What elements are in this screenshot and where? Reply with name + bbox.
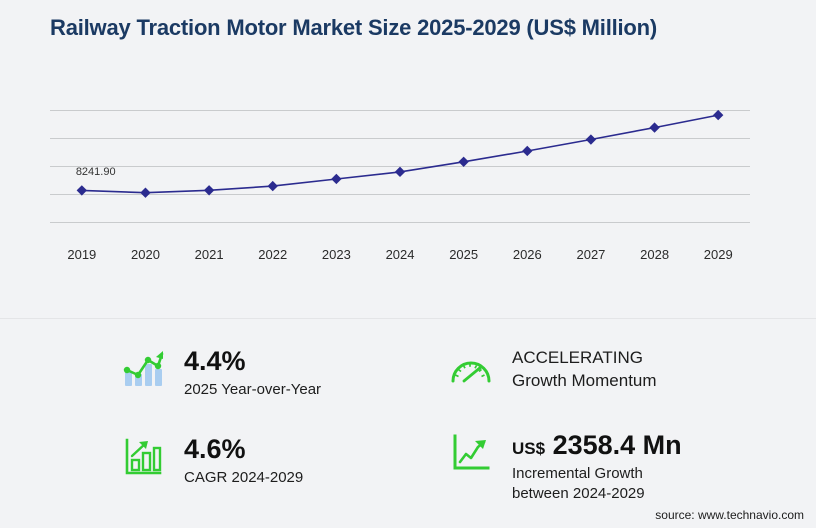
data-point-2023 (331, 174, 341, 184)
data-label-2019: 8241.90 (76, 166, 116, 178)
data-point-2028 (649, 122, 659, 132)
x-tick: 2026 (495, 247, 559, 277)
stat-caption-incremental-line1: Incremental Growth (512, 464, 682, 484)
stat-amount-incremental: 2358.4 Mn (553, 430, 682, 460)
data-point-2029 (713, 110, 723, 120)
stat-caption-yoy: 2025 Year-over-Year (184, 380, 321, 400)
data-point-2022 (268, 181, 278, 191)
data-point-2025 (458, 157, 468, 167)
x-tick: 2029 (686, 247, 750, 277)
stat-card-incremental: US$ 2358.4 Mn Incremental Growth between… (448, 430, 682, 504)
x-axis: 2019 2020 2021 2022 2023 2024 2025 2026 … (50, 247, 750, 277)
stat-heading-momentum: ACCELERATING (512, 347, 657, 370)
data-point-2027 (586, 134, 596, 144)
x-tick: 2024 (368, 247, 432, 277)
stat-unit-incremental: US$ (512, 439, 545, 458)
stat-text-incremental: US$ 2358.4 Mn Incremental Growth between… (512, 430, 682, 504)
x-tick: 2028 (623, 247, 687, 277)
data-point-2021 (204, 185, 214, 195)
bar-chart-trend-icon (120, 346, 166, 392)
data-point-2026 (522, 146, 532, 156)
stats-panel: 4.4% 2025 Year-over-Year 4.6% CAGR 2024-… (0, 330, 816, 510)
x-tick: 2019 (50, 247, 114, 277)
source-attribution: source: www.technavio.com (655, 508, 804, 522)
bar-chart-arrow-icon (120, 434, 166, 480)
series-line (82, 115, 718, 193)
stat-text-yoy: 4.4% 2025 Year-over-Year (184, 346, 321, 399)
page-title-container: Railway Traction Motor Market Size 2025-… (50, 14, 710, 42)
line-chart-arrow-icon (448, 430, 494, 476)
stat-card-cagr: 4.6% CAGR 2024-2029 (120, 434, 303, 487)
x-tick: 2023 (305, 247, 369, 277)
page-title: Railway Traction Motor Market Size 2025-… (50, 14, 710, 42)
stat-text-cagr: 4.6% CAGR 2024-2029 (184, 434, 303, 487)
chart-series-svg (50, 92, 750, 242)
stat-card-yoy: 4.4% 2025 Year-over-Year (120, 346, 321, 399)
x-tick: 2027 (559, 247, 623, 277)
section-divider (0, 318, 816, 319)
stat-caption-cagr: CAGR 2024-2029 (184, 468, 303, 488)
stat-value-incremental: US$ 2358.4 Mn (512, 431, 682, 461)
chart-plot-area: 8241.90 (50, 92, 750, 242)
stat-card-momentum: ACCELERATING Growth Momentum (448, 346, 657, 393)
data-point-2019 (77, 185, 87, 195)
stat-value-cagr: 4.6% (184, 435, 303, 465)
data-point-2020 (140, 188, 150, 198)
stat-caption-momentum: Growth Momentum (512, 370, 657, 393)
x-tick: 2020 (114, 247, 178, 277)
speedometer-icon (448, 346, 494, 392)
series-markers (77, 110, 724, 198)
line-chart: 8241.90 2019 2020 2021 2022 2023 2024 20… (0, 92, 816, 282)
stat-value-yoy: 4.4% (184, 347, 321, 377)
data-point-2024 (395, 167, 405, 177)
x-tick: 2021 (177, 247, 241, 277)
x-tick: 2022 (241, 247, 305, 277)
stat-caption-incremental-line2: between 2024-2029 (512, 484, 682, 504)
x-tick: 2025 (432, 247, 496, 277)
stat-text-momentum: ACCELERATING Growth Momentum (512, 346, 657, 393)
